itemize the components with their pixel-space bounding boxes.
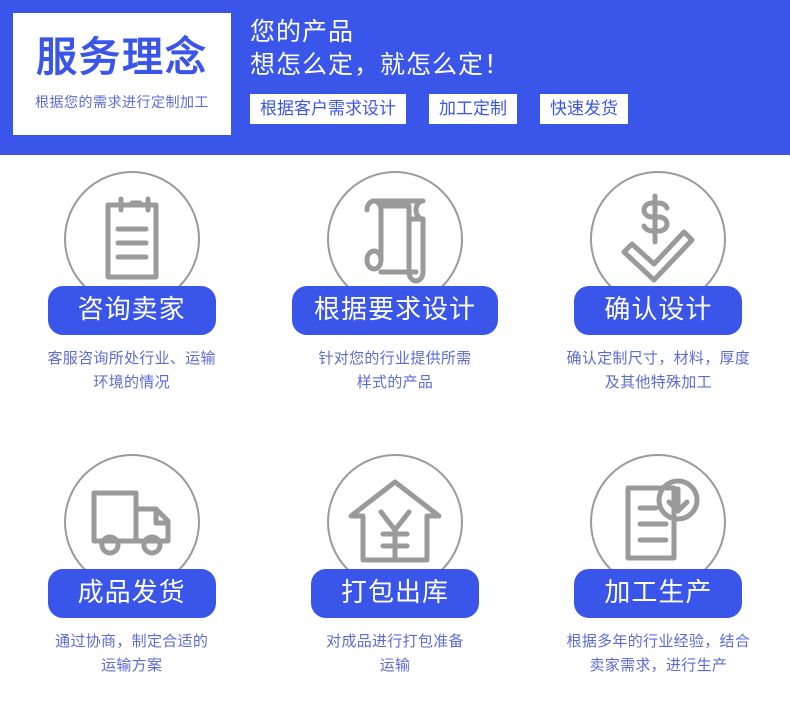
step-caption: 通过协商，制定合适的 运输方案 xyxy=(55,630,208,679)
delivery-truck-icon xyxy=(84,483,180,561)
brand-subtitle: 根据您的需求进行定制加工 xyxy=(35,92,209,112)
step-caption-line-2: 样式的产品 xyxy=(318,371,471,395)
step-card-design-to-requirements: 根据要求设计 针对您的行业提供所需 样式的产品 xyxy=(263,155,526,438)
step-caption-line-2: 运输 xyxy=(326,654,464,678)
warehouse-yen-icon xyxy=(345,476,445,568)
step-title-pill[interactable]: 根据要求设计 xyxy=(292,286,498,335)
banner-content: 您的产品 想怎么定，就怎么定！ 根据客户需求设计 加工定制 快速发货 xyxy=(250,16,780,124)
step-title-pill[interactable]: 确认设计 xyxy=(574,286,742,335)
step-caption: 确认定制尺寸，材料，厚度 及其他特殊加工 xyxy=(567,347,751,396)
service-step-grid: 咨询卖家 客服咨询所处行业、运输 环境的情况 根据要求设计 针对您的行业提供所需… xyxy=(0,155,790,721)
step-caption-line-1: 针对您的行业提供所需 xyxy=(318,347,471,371)
step-title-pill[interactable]: 打包出库 xyxy=(311,569,479,618)
step-card-confirm-design: 确认设计 确认定制尺寸，材料，厚度 及其他特殊加工 xyxy=(527,155,790,438)
tag-design-to-order[interactable]: 根据客户需求设计 xyxy=(250,94,406,124)
step-caption: 针对您的行业提供所需 样式的产品 xyxy=(318,347,471,396)
step-caption-line-1: 确认定制尺寸，材料，厚度 xyxy=(567,347,751,371)
document-download-icon xyxy=(612,476,704,568)
tag-custom-processing[interactable]: 加工定制 xyxy=(429,94,517,124)
step-caption: 根据多年的行业经验，结合 卖家需求，进行生产 xyxy=(567,630,751,679)
clipboard-icon xyxy=(88,193,176,285)
step-title-pill[interactable]: 加工生产 xyxy=(574,569,742,618)
step-card-production: 加工生产 根据多年的行业经验，结合 卖家需求，进行生产 xyxy=(527,438,790,721)
step-caption-line-2: 环境的情况 xyxy=(48,371,216,395)
header-banner: 服务理念 根据您的需求进行定制加工 您的产品 想怎么定，就怎么定！ 根据客户需求… xyxy=(0,0,790,155)
blueprint-scroll-icon xyxy=(349,194,441,284)
brand-title: 服务理念 xyxy=(36,36,208,79)
step-card-consult-seller: 咨询卖家 客服咨询所处行业、运输 环境的情况 xyxy=(0,155,263,438)
step-caption-line-2: 运输方案 xyxy=(55,654,208,678)
step-caption: 客服咨询所处行业、运输 环境的情况 xyxy=(48,347,216,396)
step-caption-line-2: 卖家需求，进行生产 xyxy=(567,654,751,678)
step-caption: 对成品进行打包准备 运输 xyxy=(326,630,464,679)
headline-line-1: 您的产品 xyxy=(250,16,780,49)
step-card-pack-and-dispatch: 打包出库 对成品进行打包准备 运输 xyxy=(263,438,526,721)
step-caption-line-1: 对成品进行打包准备 xyxy=(326,630,464,654)
step-caption-line-1: 通过协商，制定合适的 xyxy=(55,630,208,654)
step-caption-line-1: 根据多年的行业经验，结合 xyxy=(567,630,751,654)
step-title-pill[interactable]: 成品发货 xyxy=(48,569,216,618)
step-card-ship-finished-goods: 成品发货 通过协商，制定合适的 运输方案 xyxy=(0,438,263,721)
step-caption-line-2: 及其他特殊加工 xyxy=(567,371,751,395)
headline-line-2: 想怎么定，就怎么定！ xyxy=(250,49,780,82)
brand-card: 服务理念 根据您的需求进行定制加工 xyxy=(13,13,231,135)
headline: 您的产品 想怎么定，就怎么定！ xyxy=(250,16,780,83)
tag-row: 根据客户需求设计 加工定制 快速发货 xyxy=(250,94,780,124)
tag-fast-shipping[interactable]: 快速发货 xyxy=(540,94,628,124)
step-caption-line-1: 客服咨询所处行业、运输 xyxy=(48,347,216,371)
step-title-pill[interactable]: 咨询卖家 xyxy=(48,286,216,335)
dollar-check-icon xyxy=(610,192,706,286)
